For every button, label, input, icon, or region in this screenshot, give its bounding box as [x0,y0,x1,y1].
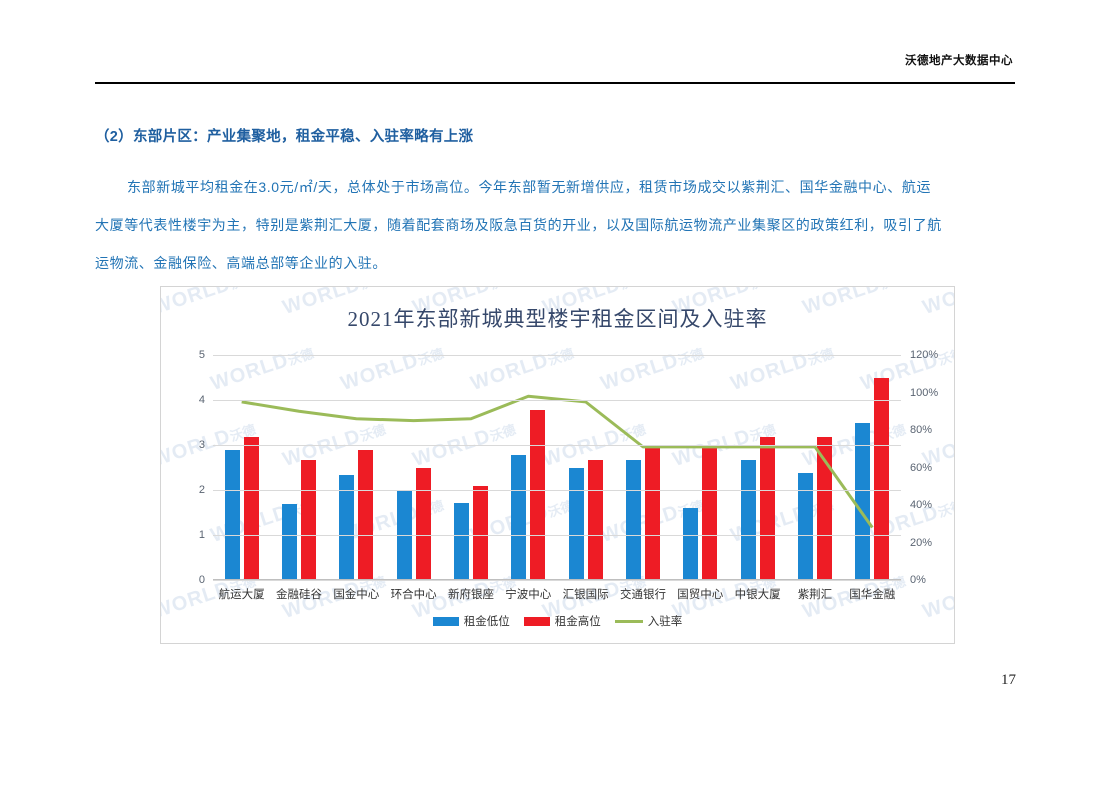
y-axis-tick-label: 3 [199,439,205,451]
x-axis-category-label: 紫荆汇 [786,586,843,602]
x-axis-category-label: 宁波中心 [500,586,557,602]
chart-title: 2021年东部新城典型楼宇租金区间及入驻率 [161,303,954,333]
y2-axis-tick-label: 20% [910,537,932,549]
y-axis-tick-label: 5 [199,349,205,361]
y-axis-tick-label: 2 [199,484,205,496]
x-axis-category-label: 国贸中心 [672,586,729,602]
chart-plot-area: 0123450%20%40%60%80%100%120% [213,355,901,580]
chart-gridline [213,445,901,446]
paragraph-line: 东部新城平均租金在3.0元/㎡/天，总体处于市场高位。今年东部暂无新增供应，租赁… [95,168,1020,206]
legend-label: 租金低位 [464,613,510,629]
x-axis-category-label: 交通银行 [614,586,671,602]
x-axis-category-label: 环合中心 [385,586,442,602]
y2-axis-tick-label: 120% [910,349,938,361]
chart-gridline [213,580,901,581]
chart-legend: 租金低位租金高位入驻率 [161,613,954,629]
header-divider [95,82,1015,85]
x-axis-category-label: 中银大厦 [729,586,786,602]
chart-gridline [213,535,901,536]
line-occupancy-rate[interactable] [242,396,873,527]
x-axis-category-label: 汇银国际 [557,586,614,602]
legend-item[interactable]: 租金低位 [433,613,510,629]
legend-swatch [524,617,550,626]
legend-label: 租金高位 [555,613,601,629]
y-axis-tick-label: 1 [199,529,205,541]
page-header: 沃德地产大数据中心 [95,52,1015,84]
legend-label: 入驻率 [648,613,683,629]
y2-axis-tick-label: 40% [910,499,932,511]
header-title: 沃德地产大数据中心 [905,52,1013,68]
y-axis-tick-label: 0 [199,574,205,586]
paragraph-line: 运物流、金融保险、高端总部等企业的入驻。 [95,244,1020,282]
x-axis-category-label: 新府银座 [442,586,499,602]
x-axis-category-label: 国华金融 [844,586,901,602]
y2-axis-tick-label: 80% [910,424,932,436]
legend-item[interactable]: 租金高位 [524,613,601,629]
paragraph-line: 大厦等代表性楼宇为主，特别是紫荆汇大厦，随着配套商场及阪急百货的开业，以及国际航… [95,206,1020,244]
y2-axis-tick-label: 0% [910,574,926,586]
x-axis-category-label: 金融硅谷 [270,586,327,602]
x-axis-category-label: 航运大厦 [213,586,270,602]
chart-category-axis: 航运大厦金融硅谷国金中心环合中心新府银座宁波中心汇银国际交通银行国贸中心中银大厦… [213,586,901,602]
occupancy-rate-line [213,355,901,580]
y2-axis-tick-label: 100% [910,387,938,399]
section-heading: （2）东部片区：产业集聚地，租金平稳、入驻率略有上涨 [95,125,473,146]
page-number: 17 [1001,672,1016,689]
chart-gridline [213,355,901,356]
legend-item[interactable]: 入驻率 [615,613,683,629]
x-axis-category-label: 国金中心 [328,586,385,602]
legend-swatch [615,620,643,623]
x-axis-line [213,579,901,580]
legend-swatch [433,617,459,626]
chart-gridline [213,400,901,401]
section-paragraph: 东部新城平均租金在3.0元/㎡/天，总体处于市场高位。今年东部暂无新增供应，租赁… [95,168,1020,282]
chart-gridline [213,490,901,491]
y2-axis-tick-label: 60% [910,462,932,474]
document-page: 沃德地产大数据中心 （2）东部片区：产业集聚地，租金平稳、入驻率略有上涨 东部新… [0,0,1111,786]
y-axis-tick-label: 4 [199,394,205,406]
chart-container: WORLD沃德WORLD沃德WORLD沃德WORLD沃德WORLD沃德WORLD… [160,286,955,644]
